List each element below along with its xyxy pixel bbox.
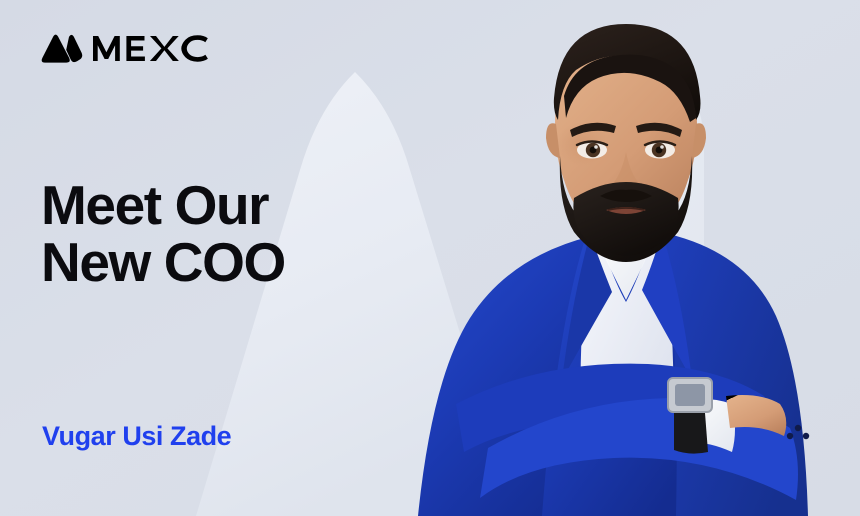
mexc-triangle-logo-icon (40, 33, 84, 64)
mexc-announcement-banner: Meet Our New COO Vugar Usi Zade (0, 0, 860, 516)
person-name: Vugar Usi Zade (42, 421, 231, 452)
person-portrait (360, 0, 860, 516)
page-title: Meet Our New COO (41, 177, 285, 290)
mexc-logo[interactable] (40, 33, 225, 64)
mexc-wordmark (93, 35, 225, 62)
